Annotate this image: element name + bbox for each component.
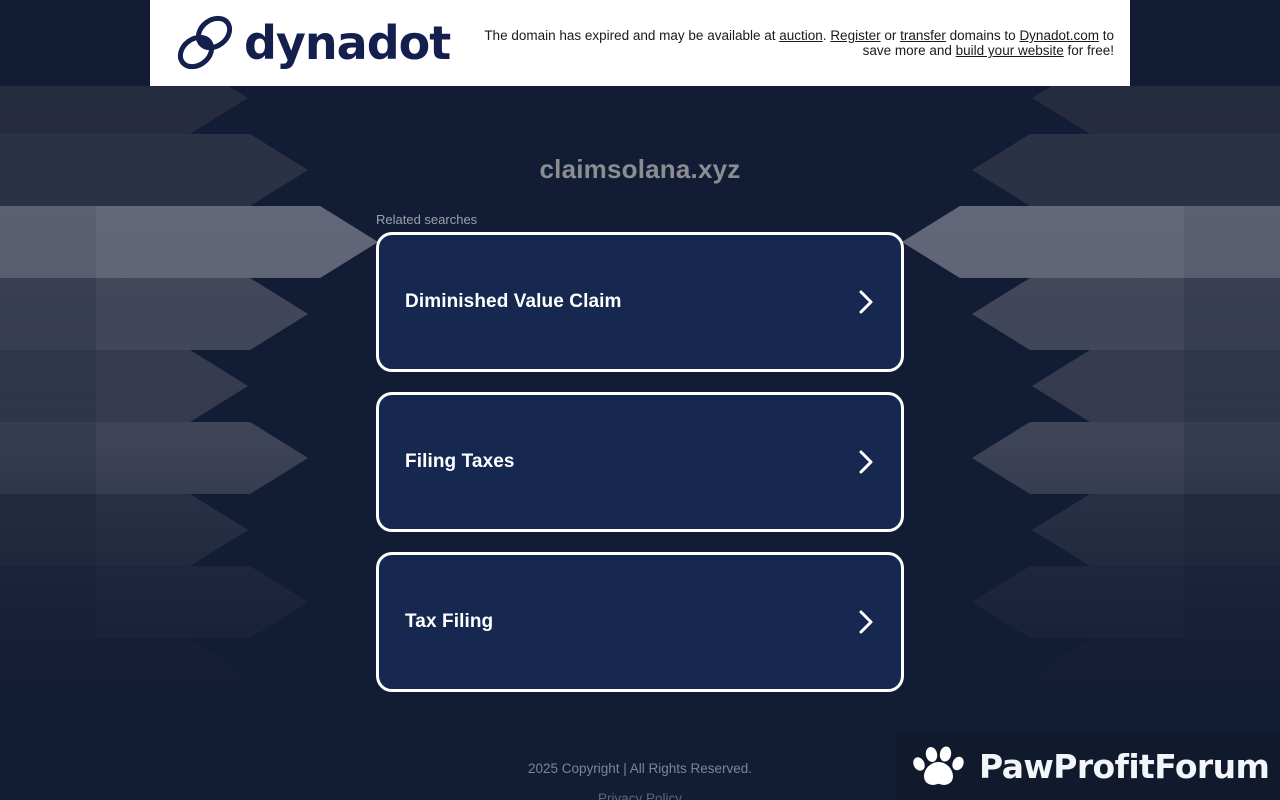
related-search-card[interactable]: Filing Taxes: [376, 392, 904, 532]
message-part-1: The domain has expired and may be availa…: [484, 28, 779, 43]
expired-domain-message: The domain has expired and may be availa…: [450, 28, 1114, 58]
auction-link[interactable]: auction: [779, 28, 823, 43]
dynadot-header-bar: dynadot The domain has expired and may b…: [150, 0, 1130, 86]
related-search-label: Tax Filing: [405, 611, 493, 633]
pawprofitforum-badge[interactable]: PawProfitForum: [895, 732, 1280, 800]
transfer-link[interactable]: transfer: [900, 28, 946, 43]
chevron-right-icon: [855, 449, 877, 475]
chevron-right-icon: [855, 609, 877, 635]
page-title: claimsolana.xyz: [0, 154, 1280, 185]
related-search-label: Diminished Value Claim: [405, 291, 622, 313]
dynadot-wordmark: dynadot: [244, 20, 450, 66]
paw-print-icon: [909, 742, 969, 790]
register-link[interactable]: Register: [830, 28, 880, 43]
dynadot-com-link[interactable]: Dynadot.com: [1019, 28, 1099, 43]
dynadot-logo[interactable]: dynadot: [174, 13, 450, 73]
privacy-policy-link[interactable]: Privacy Policy: [598, 791, 682, 800]
pawprofitforum-wordmark: PawProfitForum: [979, 750, 1269, 783]
chevron-right-icon: [855, 289, 877, 315]
related-search-card[interactable]: Diminished Value Claim: [376, 232, 904, 372]
related-search-label: Filing Taxes: [405, 451, 515, 473]
message-part-6: for free!: [1064, 43, 1114, 58]
message-part-4: domains to: [946, 28, 1020, 43]
build-your-website-link[interactable]: build your website: [956, 43, 1064, 58]
dynadot-knot-icon: [174, 13, 236, 73]
message-part-3: or: [881, 28, 901, 43]
related-search-card[interactable]: Tax Filing: [376, 552, 904, 692]
landing-page: dynadot The domain has expired and may b…: [0, 0, 1280, 800]
related-searches-list: Diminished Value Claim Filing Taxes Tax …: [376, 232, 904, 712]
related-searches-label: Related searches: [376, 212, 477, 227]
